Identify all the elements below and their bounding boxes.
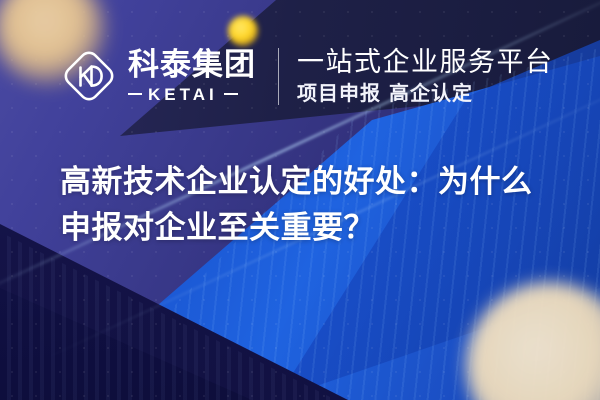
brand-name-en-row: KETAI xyxy=(128,86,256,103)
tagline-group: 一站式企业服务平台 项目申报 高企认定 xyxy=(297,48,554,104)
promo-banner: 科泰集团 KETAI 一站式企业服务平台 项目申报 高企认定 高新技术企业认定的… xyxy=(0,0,600,400)
tagline-main: 一站式企业服务平台 xyxy=(297,48,554,77)
banner-header: 科泰集团 KETAI 一站式企业服务平台 项目申报 高企认定 xyxy=(60,40,554,112)
brand-lockup: 科泰集团 KETAI xyxy=(128,50,256,103)
brand-rule-right-icon xyxy=(224,93,238,95)
brand-name-en: KETAI xyxy=(148,86,218,103)
brand-rule-left-icon xyxy=(128,93,142,95)
headline-line-1: 高新技术企业认定的好处：为什么 xyxy=(60,160,560,206)
vertical-divider-icon xyxy=(278,48,279,105)
headline: 高新技术企业认定的好处：为什么 申报对企业至关重要？ xyxy=(60,160,560,252)
brand-name-cn: 科泰集团 xyxy=(128,50,256,81)
tagline-sub: 项目申报 高企认定 xyxy=(297,83,554,104)
headline-line-2: 申报对企业至关重要？ xyxy=(60,206,560,252)
ketai-diamond-monogram-icon xyxy=(60,47,118,105)
